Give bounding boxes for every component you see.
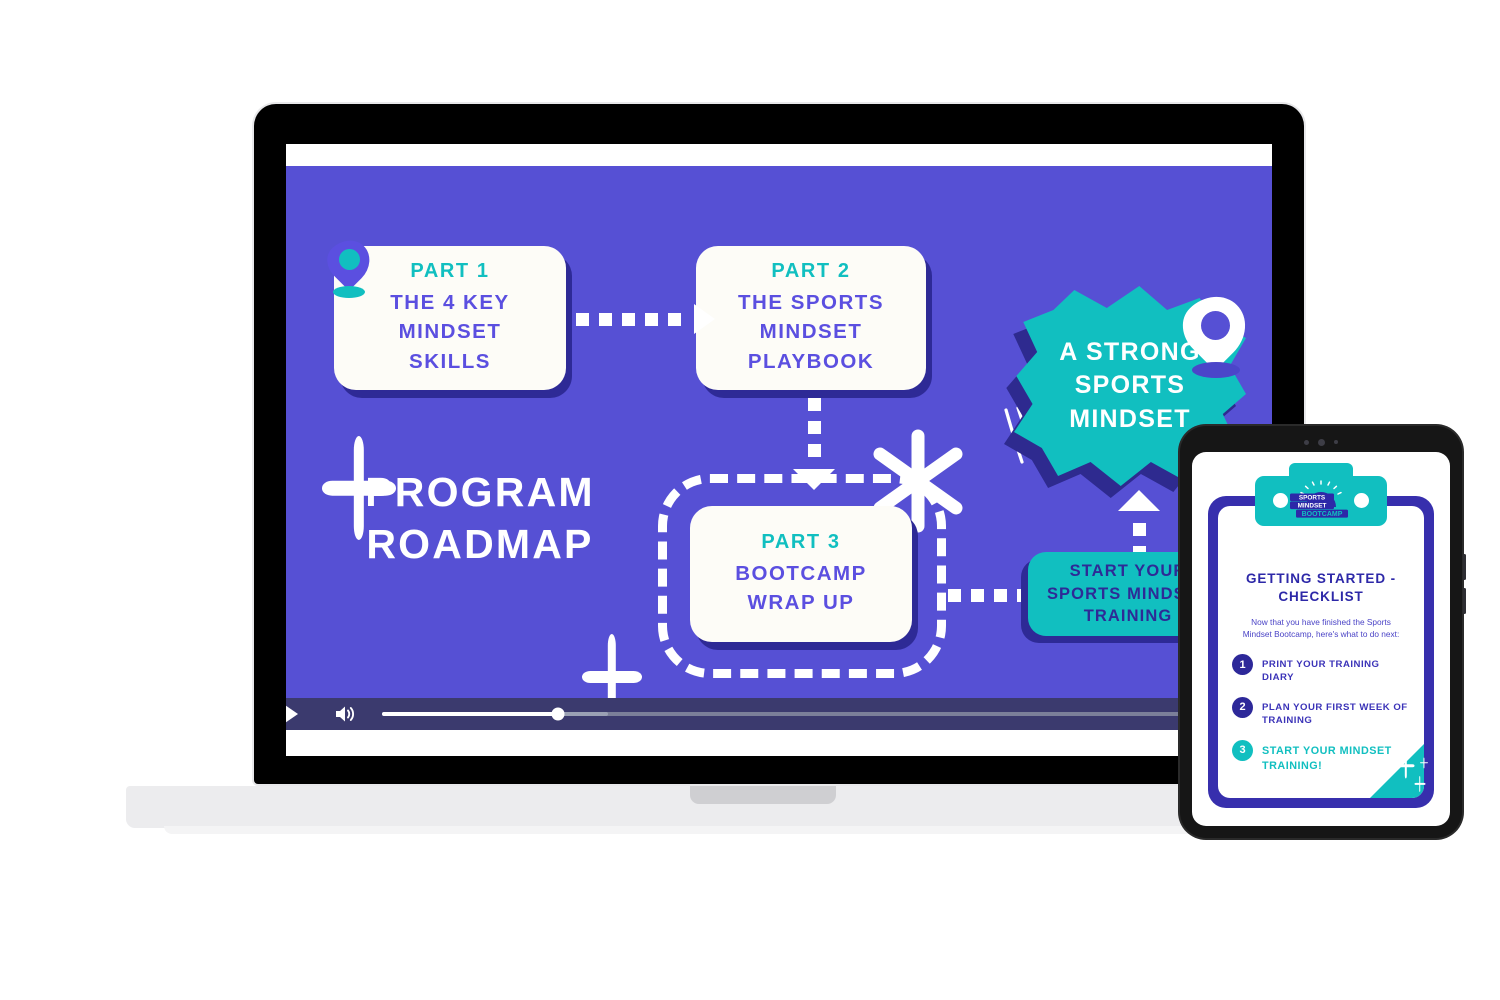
sparkle-icon — [1420, 757, 1428, 768]
roadmap-slide: PROGRAM ROADMAP PART 1 THE 4 KEY MINDSET… — [286, 166, 1272, 698]
checklist-number-badge: 1 — [1232, 654, 1253, 675]
card-part-label: PART 2 — [771, 260, 850, 283]
volume-speaker-icon[interactable] — [334, 704, 356, 724]
video-progress-fill — [382, 712, 558, 716]
sparkle-icon — [1414, 776, 1425, 792]
location-pin-icon — [1184, 296, 1246, 358]
page-title: PROGRAM ROADMAP — [330, 466, 630, 571]
sparkle-icon — [582, 634, 642, 698]
checklist-document-page: GETTING STARTED - CHECKLIST Now that you… — [1218, 506, 1424, 798]
card-title: THE 4 KEY MINDSET SKILLS — [390, 288, 509, 375]
list-item[interactable]: 2 PLAN YOUR FIRST WEEK OF TRAINING — [1232, 697, 1412, 728]
roadmap-card-part-2[interactable]: PART 2 THE SPORTS MINDSET PLAYBOOK — [696, 246, 926, 390]
brand-logo-badge: SPORTS MINDSET BOOTCAMP — [1255, 476, 1387, 526]
card-part-label: PART 1 — [410, 260, 489, 283]
checklist-item-label: START YOUR MINDSET TRAINING! — [1262, 740, 1412, 774]
video-control-bar[interactable]: -3:37 — [286, 698, 1272, 730]
page-title-line-2: ROADMAP — [330, 518, 630, 570]
video-buffered-range — [558, 712, 607, 716]
checklist-number-badge: 2 — [1232, 697, 1253, 718]
tablet-screen: GETTING STARTED - CHECKLIST Now that you… — [1192, 452, 1450, 826]
checklist-item-label: PRINT YOUR TRAINING DIARY — [1262, 654, 1412, 685]
mockup-stage: PROGRAM ROADMAP PART 1 THE 4 KEY MINDSET… — [0, 0, 1500, 1000]
video-scrubber-handle[interactable] — [552, 708, 565, 721]
card-title: THE SPORTS MINDSET PLAYBOOK — [738, 288, 884, 375]
logo-line-2: MINDSET — [1298, 503, 1327, 510]
tablet-volume-up-button[interactable] — [1463, 554, 1466, 580]
page-title-line-1: PROGRAM — [330, 466, 630, 518]
list-item[interactable]: 3 START YOUR MINDSET TRAINING! — [1232, 740, 1412, 774]
laptop-device: PROGRAM ROADMAP PART 1 THE 4 KEY MINDSET… — [254, 104, 1304, 784]
location-pin-icon — [328, 240, 370, 282]
laptop-screen: PROGRAM ROADMAP PART 1 THE 4 KEY MINDSET… — [286, 144, 1272, 756]
laptop-base-notch — [690, 786, 836, 804]
checklist-heading: GETTING STARTED - CHECKLIST — [1232, 570, 1410, 606]
roadmap-card-part-3[interactable]: PART 3 BOOTCAMP WRAP UP — [690, 506, 912, 642]
logo-line-3: BOOTCAMP — [1302, 511, 1343, 518]
connector-arrow-part1-part2 — [576, 304, 715, 334]
video-progress-scrubber[interactable] — [382, 712, 1203, 716]
checklist-number-badge: 3 — [1232, 740, 1253, 761]
sports-mindset-bootcamp-logo-icon: SPORTS MINDSET BOOTCAMP — [1284, 480, 1358, 522]
checklist-subtitle: Now that you have finished the Sports Mi… — [1236, 616, 1406, 640]
sparkle-icon — [1397, 753, 1414, 778]
card-part-label: PART 3 — [761, 531, 840, 554]
card-title: BOOTCAMP WRAP UP — [735, 559, 867, 617]
checklist-items: 1 PRINT YOUR TRAINING DIARY 2 PLAN YOUR … — [1232, 654, 1412, 786]
checklist-item-label: PLAN YOUR FIRST WEEK OF TRAINING — [1262, 697, 1412, 728]
list-item[interactable]: 1 PRINT YOUR TRAINING DIARY — [1232, 654, 1412, 685]
logo-line-1: SPORTS — [1299, 495, 1326, 502]
connector-arrow-part2-part3 — [793, 398, 835, 490]
tablet-device: GETTING STARTED - CHECKLIST Now that you… — [1180, 426, 1462, 838]
tablet-volume-down-button[interactable] — [1463, 588, 1466, 614]
play-triangle-icon[interactable] — [286, 705, 298, 723]
tablet-camera-dots — [1180, 438, 1462, 446]
checklist-document-frame: GETTING STARTED - CHECKLIST Now that you… — [1208, 496, 1434, 808]
